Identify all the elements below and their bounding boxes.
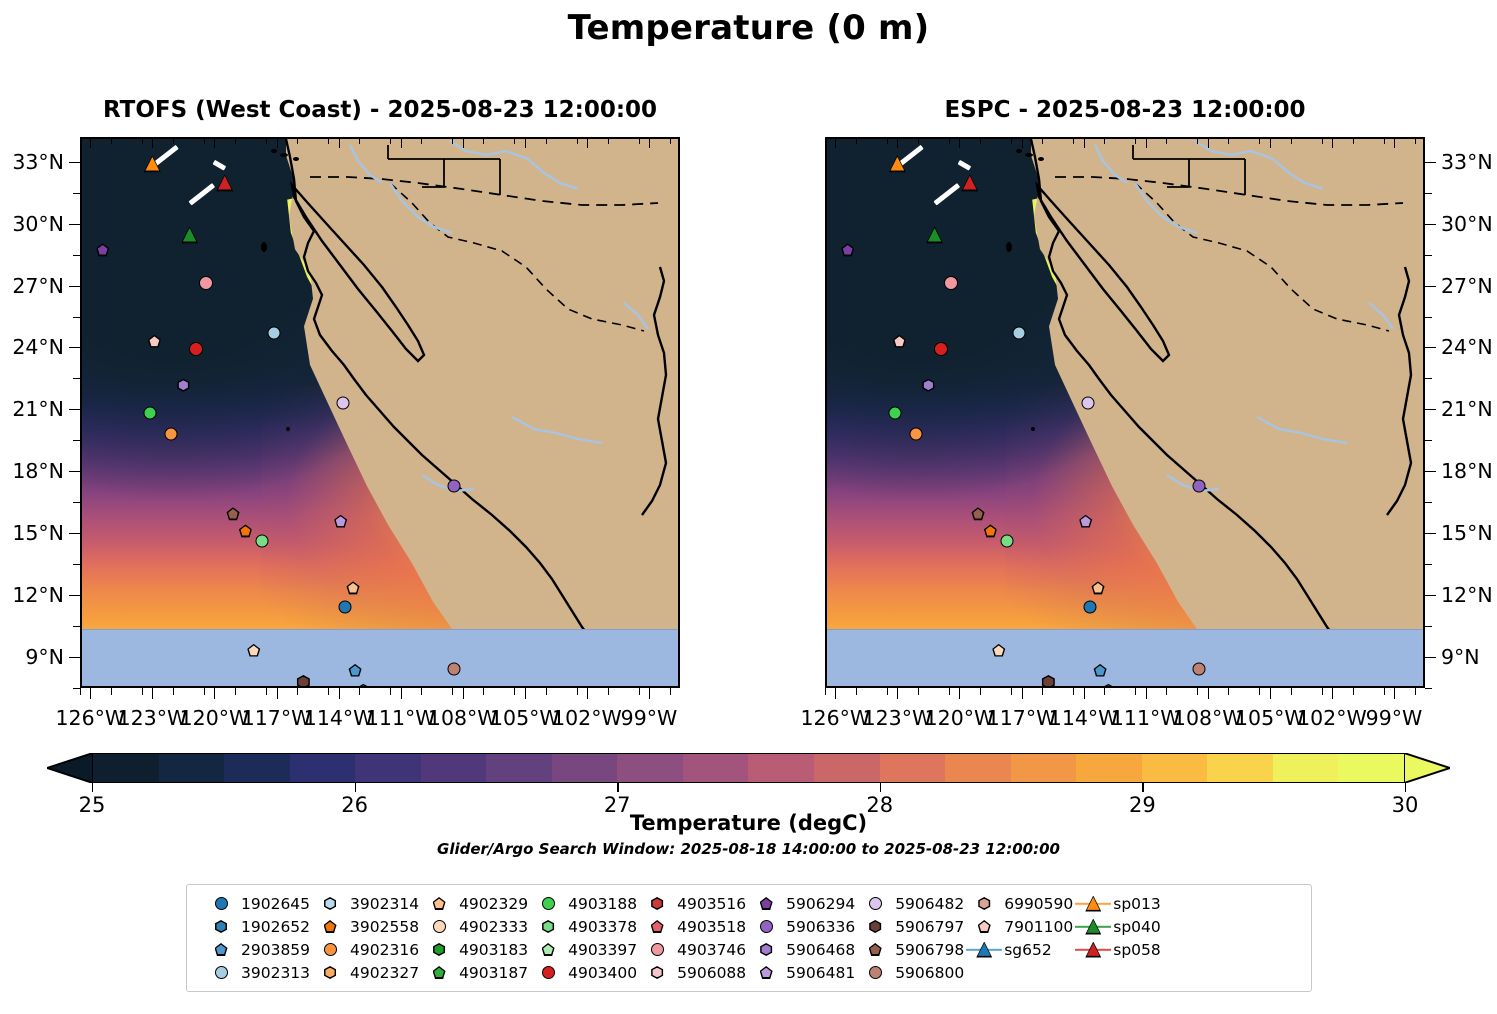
x-ticklabel: 114°W — [304, 706, 374, 730]
legend-marker-fill — [652, 968, 662, 978]
colorbar-tick — [355, 783, 356, 792]
legend-column: 4903516490351849037465906088 — [637, 894, 746, 982]
legend-marker-glyph — [542, 920, 555, 933]
legend-marker-fill — [870, 945, 880, 955]
legend-entry[interactable]: sp013 — [1073, 894, 1161, 913]
legend-marker — [746, 940, 786, 959]
legend-marker — [855, 917, 895, 936]
legend-marker — [1073, 917, 1113, 936]
legend-label: 1902652 — [241, 918, 310, 936]
x-ticklabel: 102°W — [1297, 706, 1367, 730]
x-ticklabel: 102°W — [552, 706, 622, 730]
legend-label: sg652 — [1004, 941, 1052, 959]
y-ticklabel: 9°N — [1441, 645, 1480, 669]
legend-marker-fill — [979, 899, 989, 909]
legend-label: 4902316 — [350, 941, 419, 959]
legend-column: sp013sp040sp058 — [1073, 894, 1161, 982]
x-ticklabel: 120°W — [925, 706, 995, 730]
legend-marker-glyph — [869, 943, 882, 956]
legend-marker-fill — [543, 922, 553, 932]
x-ticklabel: 111°W — [366, 706, 436, 730]
legend-marker-glyph — [869, 920, 882, 933]
y-ticklabel: 30°N — [1441, 212, 1493, 236]
y-ticklabel: 24°N — [1441, 335, 1493, 359]
search-window-annotation: Glider/Argo Search Window: 2025-08-18 14… — [0, 840, 1497, 858]
legend-marker-glyph — [760, 897, 773, 910]
colorbar-swatch — [1273, 754, 1339, 782]
legend-label: 5906468 — [786, 941, 855, 959]
legend-marker-fill — [434, 968, 444, 978]
legend-entry[interactable]: 5906798 — [855, 940, 964, 959]
legend-entry[interactable]: 4903187 — [419, 963, 528, 982]
legend-marker — [637, 963, 677, 982]
x-ticklabel: 99°W — [1366, 706, 1423, 730]
legend-marker — [419, 940, 459, 959]
legend-entry[interactable]: 4903518 — [637, 917, 746, 936]
legend-entry[interactable]: 5906481 — [746, 963, 855, 982]
legend-marker-glyph — [651, 920, 664, 933]
legend-marker — [419, 894, 459, 913]
legend-marker — [637, 917, 677, 936]
legend-label: 4903397 — [568, 941, 637, 959]
x-ticklabel: 123°W — [863, 706, 933, 730]
x-ticklabel: 99°W — [621, 706, 678, 730]
y-ticklabel: 33°N — [1441, 150, 1493, 174]
legend-label: 4903516 — [677, 895, 746, 913]
colorbar-swatch — [748, 754, 814, 782]
legend-entry[interactable]: sp058 — [1073, 940, 1161, 959]
legend-marker-fill — [434, 945, 444, 955]
legend-entry[interactable]: 2903859 — [201, 940, 310, 959]
y-axis-ticks-rtofs — [80, 137, 680, 688]
legend-column: 4902329490233349031834903187 — [419, 894, 528, 982]
legend-marker-glyph — [542, 966, 555, 979]
legend-label: 4902329 — [459, 895, 528, 913]
legend-marker-glyph — [215, 920, 228, 933]
legend-marker — [1073, 940, 1113, 959]
colorbar-swatch — [355, 754, 421, 782]
legend-entry[interactable]: 5906088 — [637, 963, 746, 982]
colorbar-swatch — [224, 754, 290, 782]
x-ticklabel: 114°W — [1049, 706, 1119, 730]
colorbar-swatch — [1076, 754, 1142, 782]
legend-entry[interactable]: 4902316 — [310, 940, 419, 959]
colorbar-swatch — [880, 754, 946, 782]
legend-label: 6990590 — [1004, 895, 1073, 913]
y-ticklabel: 30°N — [12, 212, 64, 236]
legend-entry[interactable]: 4903746 — [637, 940, 746, 959]
legend-marker — [855, 963, 895, 982]
legend-entry[interactable]: 5906797 — [855, 917, 964, 936]
legend-marker-glyph — [324, 897, 337, 910]
x-ticklabel: 120°W — [180, 706, 250, 730]
legend-label: 4902333 — [459, 918, 528, 936]
legend-marker-glyph — [324, 966, 337, 979]
legend-marker-glyph — [215, 966, 228, 979]
legend-marker-fill — [325, 922, 335, 932]
x-ticklabel: 117°W — [987, 706, 1057, 730]
y-ticklabel: 12°N — [12, 583, 64, 607]
legend-entry[interactable]: 4903397 — [528, 940, 637, 959]
legend-label: 4903183 — [459, 941, 528, 959]
legend-label: 3902558 — [350, 918, 419, 936]
x-axis-labels-rtofs: 126°W123°W120°W117°W114°W111°W108°W105°W… — [80, 688, 680, 728]
legend-entry[interactable]: 4902329 — [419, 894, 528, 913]
legend-entry[interactable]: 4902327 — [310, 963, 419, 982]
legend-marker-glyph — [978, 920, 991, 933]
legend-marker-glyph — [651, 943, 664, 956]
legend-marker — [310, 894, 350, 913]
legend-entry[interactable]: 5906800 — [855, 963, 964, 982]
colorbar-swatch — [290, 754, 356, 782]
legend-label: 3902313 — [241, 964, 310, 982]
legend-marker-glyph — [324, 920, 337, 933]
y-ticklabel: 27°N — [1441, 274, 1493, 298]
legend-marker-glyph — [760, 966, 773, 979]
legend-marker-fill — [216, 945, 226, 955]
colorbar-gradient — [92, 753, 1405, 783]
legend-marker-fill — [870, 922, 880, 932]
legend-entry[interactable]: 3902314 — [310, 894, 419, 913]
colorbar-tick — [880, 783, 881, 792]
legend-marker-glyph — [760, 943, 773, 956]
legend-marker — [964, 917, 1004, 936]
colorbar-label: Temperature (degC) — [0, 811, 1497, 835]
colorbar-tick — [1142, 783, 1143, 792]
legend-column: 4903188490337849033974903400 — [528, 894, 637, 982]
figure-title: Temperature (0 m) — [0, 8, 1497, 48]
legend-marker-fill — [325, 968, 335, 978]
x-ticklabel: 117°W — [242, 706, 312, 730]
x-ticklabel: 108°W — [428, 706, 498, 730]
colorbar-swatch — [617, 754, 683, 782]
legend-marker-fill — [434, 899, 444, 909]
colorbar-swatch — [945, 754, 1011, 782]
legend-label: 5906336 — [786, 918, 855, 936]
x-ticklabel: 105°W — [490, 706, 560, 730]
legend-column: 5906482590679759067985906800 — [855, 894, 964, 982]
legend-label: 5906481 — [786, 964, 855, 982]
legend-entry[interactable]: 4903188 — [528, 894, 637, 913]
legend-entry[interactable]: 4903516 — [637, 894, 746, 913]
legend-label: 7901100 — [1004, 918, 1073, 936]
legend-marker-glyph — [324, 943, 337, 956]
legend-column: 3902314390255849023164902327 — [310, 894, 419, 982]
legend-marker — [201, 894, 241, 913]
legend-marker — [1073, 894, 1113, 913]
legend-label: 4903518 — [677, 918, 746, 936]
legend-marker-fill — [761, 899, 771, 909]
legend-label: 4903746 — [677, 941, 746, 959]
colorbar-tick — [1405, 783, 1406, 792]
legend-marker-glyph — [978, 897, 991, 910]
legend-marker — [528, 963, 568, 982]
legend-label: 5906482 — [895, 895, 964, 913]
x-ticklabel: 123°W — [118, 706, 188, 730]
legend-entry[interactable]: 1902652 — [201, 917, 310, 936]
legend-entry[interactable]: 4903183 — [419, 940, 528, 959]
platform-legend: 1902645190265229038593902313390231439025… — [186, 884, 1312, 992]
legend-marker — [855, 940, 895, 959]
x-ticklabel: 105°W — [1235, 706, 1305, 730]
legend-marker — [310, 917, 350, 936]
legend-marker — [746, 917, 786, 936]
colorbar-swatch — [93, 754, 159, 782]
legend-marker-glyph — [760, 920, 773, 933]
legend-marker — [310, 963, 350, 982]
y-axis-labels-espc: 33°N30°N27°N24°N21°N18°N15°N12°N9°N — [1425, 137, 1497, 688]
map-panel-rtofs: RTOFS (West Coast) - 2025-08-23 12:00:00 — [80, 137, 680, 688]
colorbar-swatch — [1011, 754, 1077, 782]
y-tick-minor — [1425, 688, 1432, 689]
legend-column: 5906294590633659064685906481 — [746, 894, 855, 982]
x-ticklabel: 111°W — [1111, 706, 1181, 730]
legend-entry[interactable]: 3902313 — [201, 963, 310, 982]
legend-entry[interactable]: 5906336 — [746, 917, 855, 936]
legend-marker-fill — [761, 945, 771, 955]
colorbar-swatch — [683, 754, 749, 782]
legend-label: 3902314 — [350, 895, 419, 913]
legend-label: 2903859 — [241, 941, 310, 959]
legend-marker — [201, 963, 241, 982]
legend-label: 4903378 — [568, 918, 637, 936]
legend-marker-glyph — [542, 897, 555, 910]
legend-marker-glyph — [215, 897, 228, 910]
colorbar-swatch — [1207, 754, 1273, 782]
legend-marker-fill — [325, 899, 335, 909]
legend-entry[interactable]: sg652 — [964, 940, 1073, 959]
legend-label: 4902327 — [350, 964, 419, 982]
y-ticklabel: 24°N — [12, 335, 64, 359]
legend-marker-glyph — [433, 966, 446, 979]
legend-marker — [964, 940, 1004, 959]
y-ticklabel: 27°N — [12, 274, 64, 298]
y-ticklabel: 9°N — [25, 645, 64, 669]
legend-marker-fill — [979, 922, 989, 932]
legend-marker — [528, 917, 568, 936]
legend-marker — [746, 894, 786, 913]
legend-entry[interactable]: 5906468 — [746, 940, 855, 959]
y-ticklabel: 18°N — [1441, 459, 1493, 483]
legend-label: 4903188 — [568, 895, 637, 913]
colorbar-extend-max — [1404, 753, 1450, 783]
map-panel-espc: ESPC - 2025-08-23 12:00:00 — [825, 137, 1425, 688]
legend-marker-fill — [652, 922, 662, 932]
legend-entry[interactable]: 5906294 — [746, 894, 855, 913]
legend-marker — [637, 894, 677, 913]
legend-entry[interactable]: sp040 — [1073, 917, 1161, 936]
colorbar: 252627282930 — [47, 753, 1450, 783]
legend-marker-glyph — [433, 943, 446, 956]
x-ticklabel: 126°W — [801, 706, 871, 730]
colorbar-swatch — [1338, 754, 1404, 782]
legend-marker — [855, 894, 895, 913]
legend-entry[interactable]: 4902333 — [419, 917, 528, 936]
colorbar-swatch — [486, 754, 552, 782]
legend-label: 5906797 — [895, 918, 964, 936]
legend-marker-glyph — [433, 920, 446, 933]
legend-marker-fill — [761, 968, 771, 978]
legend-marker-glyph — [542, 943, 555, 956]
legend-marker-glyph — [869, 897, 882, 910]
legend-marker-glyph — [215, 943, 228, 956]
legend-marker — [637, 940, 677, 959]
y-ticklabel: 15°N — [1441, 521, 1493, 545]
legend-entry[interactable]: 1902645 — [201, 894, 310, 913]
colorbar-extend-min — [47, 753, 93, 783]
legend-entry[interactable]: 6990590 — [964, 894, 1073, 913]
legend-column: 1902645190265229038593902313 — [201, 894, 310, 982]
legend-label: 4903400 — [568, 964, 637, 982]
y-axis-labels-rtofs: 33°N30°N27°N24°N21°N18°N15°N12°N9°N — [0, 137, 80, 688]
legend-marker — [201, 940, 241, 959]
y-ticklabel: 21°N — [1441, 397, 1493, 421]
legend-marker — [964, 894, 1004, 913]
colorbar-swatch — [421, 754, 487, 782]
legend-label: 5906294 — [786, 895, 855, 913]
legend-label: sp013 — [1113, 895, 1161, 913]
y-ticklabel: 18°N — [12, 459, 64, 483]
legend-label: 5906798 — [895, 941, 964, 959]
legend-marker — [201, 917, 241, 936]
colorbar-swatch — [552, 754, 618, 782]
legend-marker-fill — [543, 945, 553, 955]
colorbar-tick — [92, 783, 93, 792]
legend-marker-glyph — [651, 897, 664, 910]
legend-marker — [310, 940, 350, 959]
legend-label: 5906800 — [895, 964, 964, 982]
y-axis-ticks-espc — [825, 137, 1425, 688]
y-ticklabel: 15°N — [12, 521, 64, 545]
legend-label: 1902645 — [241, 895, 310, 913]
panel-title-espc: ESPC - 2025-08-23 12:00:00 — [825, 97, 1425, 123]
legend-entry[interactable]: 4903400 — [528, 963, 637, 982]
legend-entry[interactable]: 3902558 — [310, 917, 419, 936]
legend-label: sp040 — [1113, 918, 1161, 936]
y-tick-minor — [73, 688, 80, 689]
legend-marker-glyph — [651, 966, 664, 979]
x-ticklabel: 108°W — [1173, 706, 1243, 730]
x-ticklabel: 126°W — [56, 706, 126, 730]
legend-marker — [419, 917, 459, 936]
y-ticklabel: 21°N — [12, 397, 64, 421]
legend-marker-fill — [652, 899, 662, 909]
legend-marker-glyph — [433, 897, 446, 910]
legend-label: 4903187 — [459, 964, 528, 982]
legend-marker — [528, 940, 568, 959]
legend-marker — [528, 894, 568, 913]
legend-label: 5906088 — [677, 964, 746, 982]
legend-label: sp058 — [1113, 941, 1161, 959]
colorbar-swatch — [159, 754, 225, 782]
legend-entry[interactable]: 4903378 — [528, 917, 637, 936]
legend-marker — [419, 963, 459, 982]
colorbar-swatch — [1142, 754, 1208, 782]
colorbar-tick — [617, 783, 618, 792]
x-axis-labels-espc: 126°W123°W120°W117°W114°W111°W108°W105°W… — [825, 688, 1425, 728]
legend-marker-glyph — [869, 966, 882, 979]
legend-column: 69905907901100sg652 — [964, 894, 1073, 982]
legend-marker-fill — [216, 922, 226, 932]
y-ticklabel: 12°N — [1441, 583, 1493, 607]
legend-entry[interactable]: 7901100 — [964, 917, 1073, 936]
legend-marker — [746, 963, 786, 982]
legend-entry[interactable]: 5906482 — [855, 894, 964, 913]
y-ticklabel: 33°N — [12, 150, 64, 174]
colorbar-swatch — [814, 754, 880, 782]
panel-title-rtofs: RTOFS (West Coast) - 2025-08-23 12:00:00 — [80, 97, 680, 123]
